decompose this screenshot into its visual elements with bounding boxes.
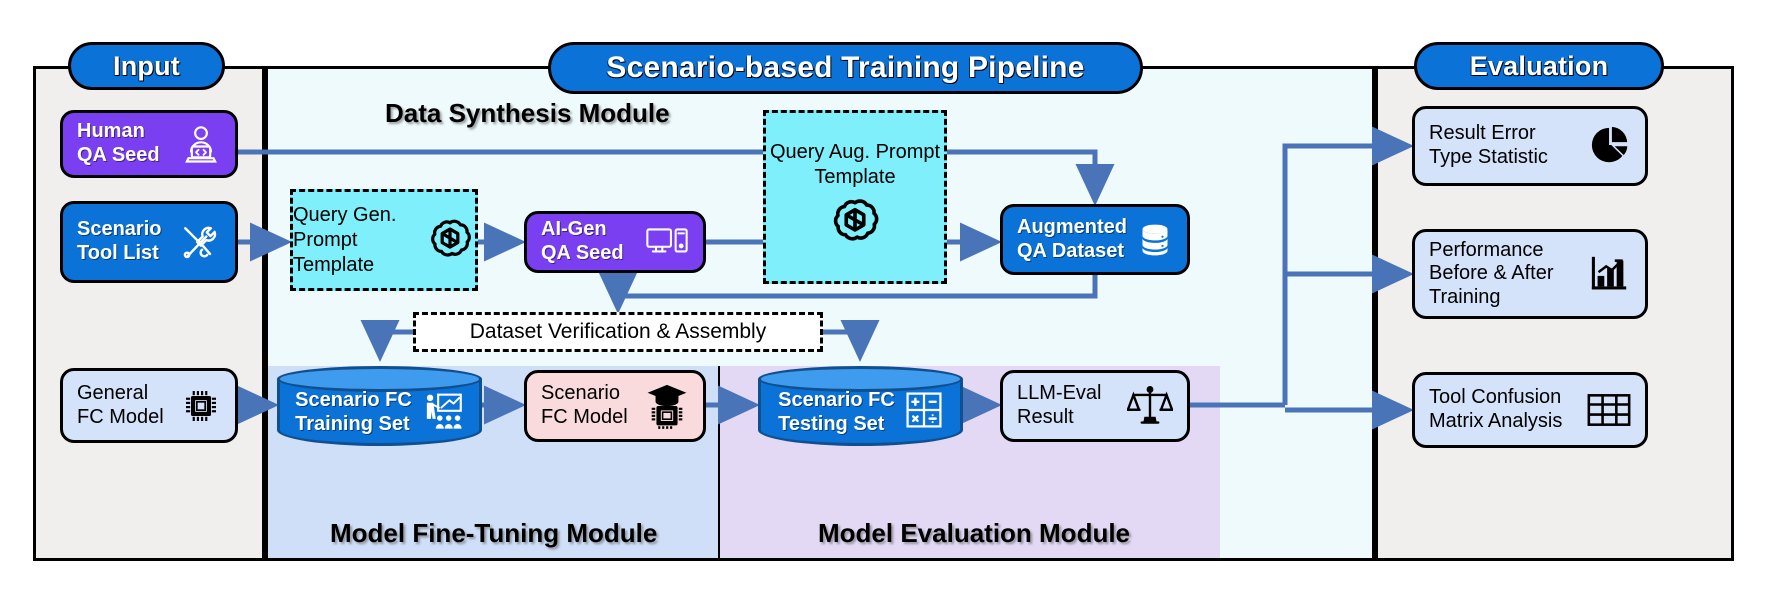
panel-title-pipeline-label: Scenario-based Training Pipeline	[606, 51, 1084, 85]
table-grid-icon	[1587, 392, 1631, 428]
panel-title-evaluation-label: Evaluation	[1470, 51, 1609, 82]
node-query-gen-prompt-template[interactable]: Query Gen. Prompt Template	[290, 189, 478, 291]
bar-chart-growth-icon	[1589, 253, 1631, 295]
caption-data-synthesis: Data Synthesis Module	[385, 98, 670, 129]
caption-model-evaluation: Model Evaluation Module	[818, 518, 1130, 549]
node-llm-eval-result[interactable]: LLM-Eval Result	[1000, 370, 1190, 442]
graduation-chip-icon	[645, 383, 689, 429]
node-query-aug-prompt-template-label: Query Aug. Prompt Template	[766, 140, 944, 190]
person-coding-icon	[181, 124, 221, 164]
node-query-aug-prompt-template[interactable]: Query Aug. Prompt Template	[763, 110, 947, 284]
diagram-canvas: Input Scenario-based Training Pipeline E…	[0, 0, 1767, 593]
node-dataset-verification-assembly[interactable]: Dataset Verification & Assembly	[413, 312, 823, 352]
node-query-gen-prompt-template-label: Query Gen. Prompt Template	[293, 203, 419, 278]
node-augmented-qa-dataset[interactable]: Augmented QA Dataset	[1000, 204, 1190, 275]
calculator-icon	[905, 391, 943, 434]
node-tool-confusion-matrix-analysis-label: Tool Confusion Matrix Analysis	[1429, 386, 1562, 433]
cpu-chip-icon	[181, 386, 221, 426]
node-scenario-fc-model-label: Scenario FC Model	[541, 382, 628, 429]
caption-model-fine-tuning: Model Fine-Tuning Module	[330, 518, 657, 549]
node-scenario-fc-testing-set-label: Scenario FC Testing Set	[778, 389, 895, 436]
node-augmented-qa-dataset-label: Augmented QA Dataset	[1017, 216, 1127, 263]
node-scenario-fc-training-set-label: Scenario FC Training Set	[295, 389, 412, 436]
tools-icon	[177, 220, 221, 264]
node-performance-before-after-training[interactable]: Performance Before & After Training	[1412, 229, 1648, 319]
node-human-qa-seed[interactable]: Human QA Seed	[60, 110, 238, 178]
node-llm-eval-result-label: LLM-Eval Result	[1017, 382, 1101, 429]
node-scenario-fc-model[interactable]: Scenario FC Model	[524, 370, 706, 442]
node-general-fc-model[interactable]: General FC Model	[60, 368, 238, 443]
node-scenario-tool-list-label: Scenario Tool List	[77, 218, 161, 265]
node-scenario-fc-testing-set[interactable]: Scenario FC Testing Set	[758, 366, 963, 446]
desktop-computer-icon	[645, 224, 689, 260]
panel-title-evaluation: Evaluation	[1414, 42, 1664, 90]
panel-title-input: Input	[68, 42, 225, 90]
node-result-error-type-statistic-label: Result Error Type Statistic	[1429, 122, 1548, 169]
node-performance-before-after-training-label: Performance Before & After Training	[1429, 239, 1554, 310]
pie-chart-icon	[1589, 125, 1631, 167]
balance-scale-icon	[1127, 383, 1173, 429]
node-ai-gen-qa-seed-label: AI-Gen QA Seed	[541, 218, 624, 265]
node-scenario-tool-list[interactable]: Scenario Tool List	[60, 201, 238, 283]
panel-title-input-label: Input	[113, 51, 180, 82]
node-human-qa-seed-label: Human QA Seed	[77, 120, 160, 167]
openai-logo-icon	[827, 194, 883, 255]
node-dataset-verification-assembly-label: Dataset Verification & Assembly	[470, 320, 766, 344]
node-ai-gen-qa-seed[interactable]: AI-Gen QA Seed	[524, 211, 706, 273]
openai-logo-icon	[425, 215, 475, 270]
node-general-fc-model-label: General FC Model	[77, 382, 164, 429]
database-icon	[1135, 220, 1175, 260]
node-scenario-fc-training-set[interactable]: Scenario FC Training Set	[277, 366, 482, 446]
panel-title-pipeline: Scenario-based Training Pipeline	[548, 42, 1143, 94]
node-result-error-type-statistic[interactable]: Result Error Type Statistic	[1412, 106, 1648, 186]
teacher-classroom-icon	[422, 391, 464, 434]
node-tool-confusion-matrix-analysis[interactable]: Tool Confusion Matrix Analysis	[1412, 372, 1648, 448]
